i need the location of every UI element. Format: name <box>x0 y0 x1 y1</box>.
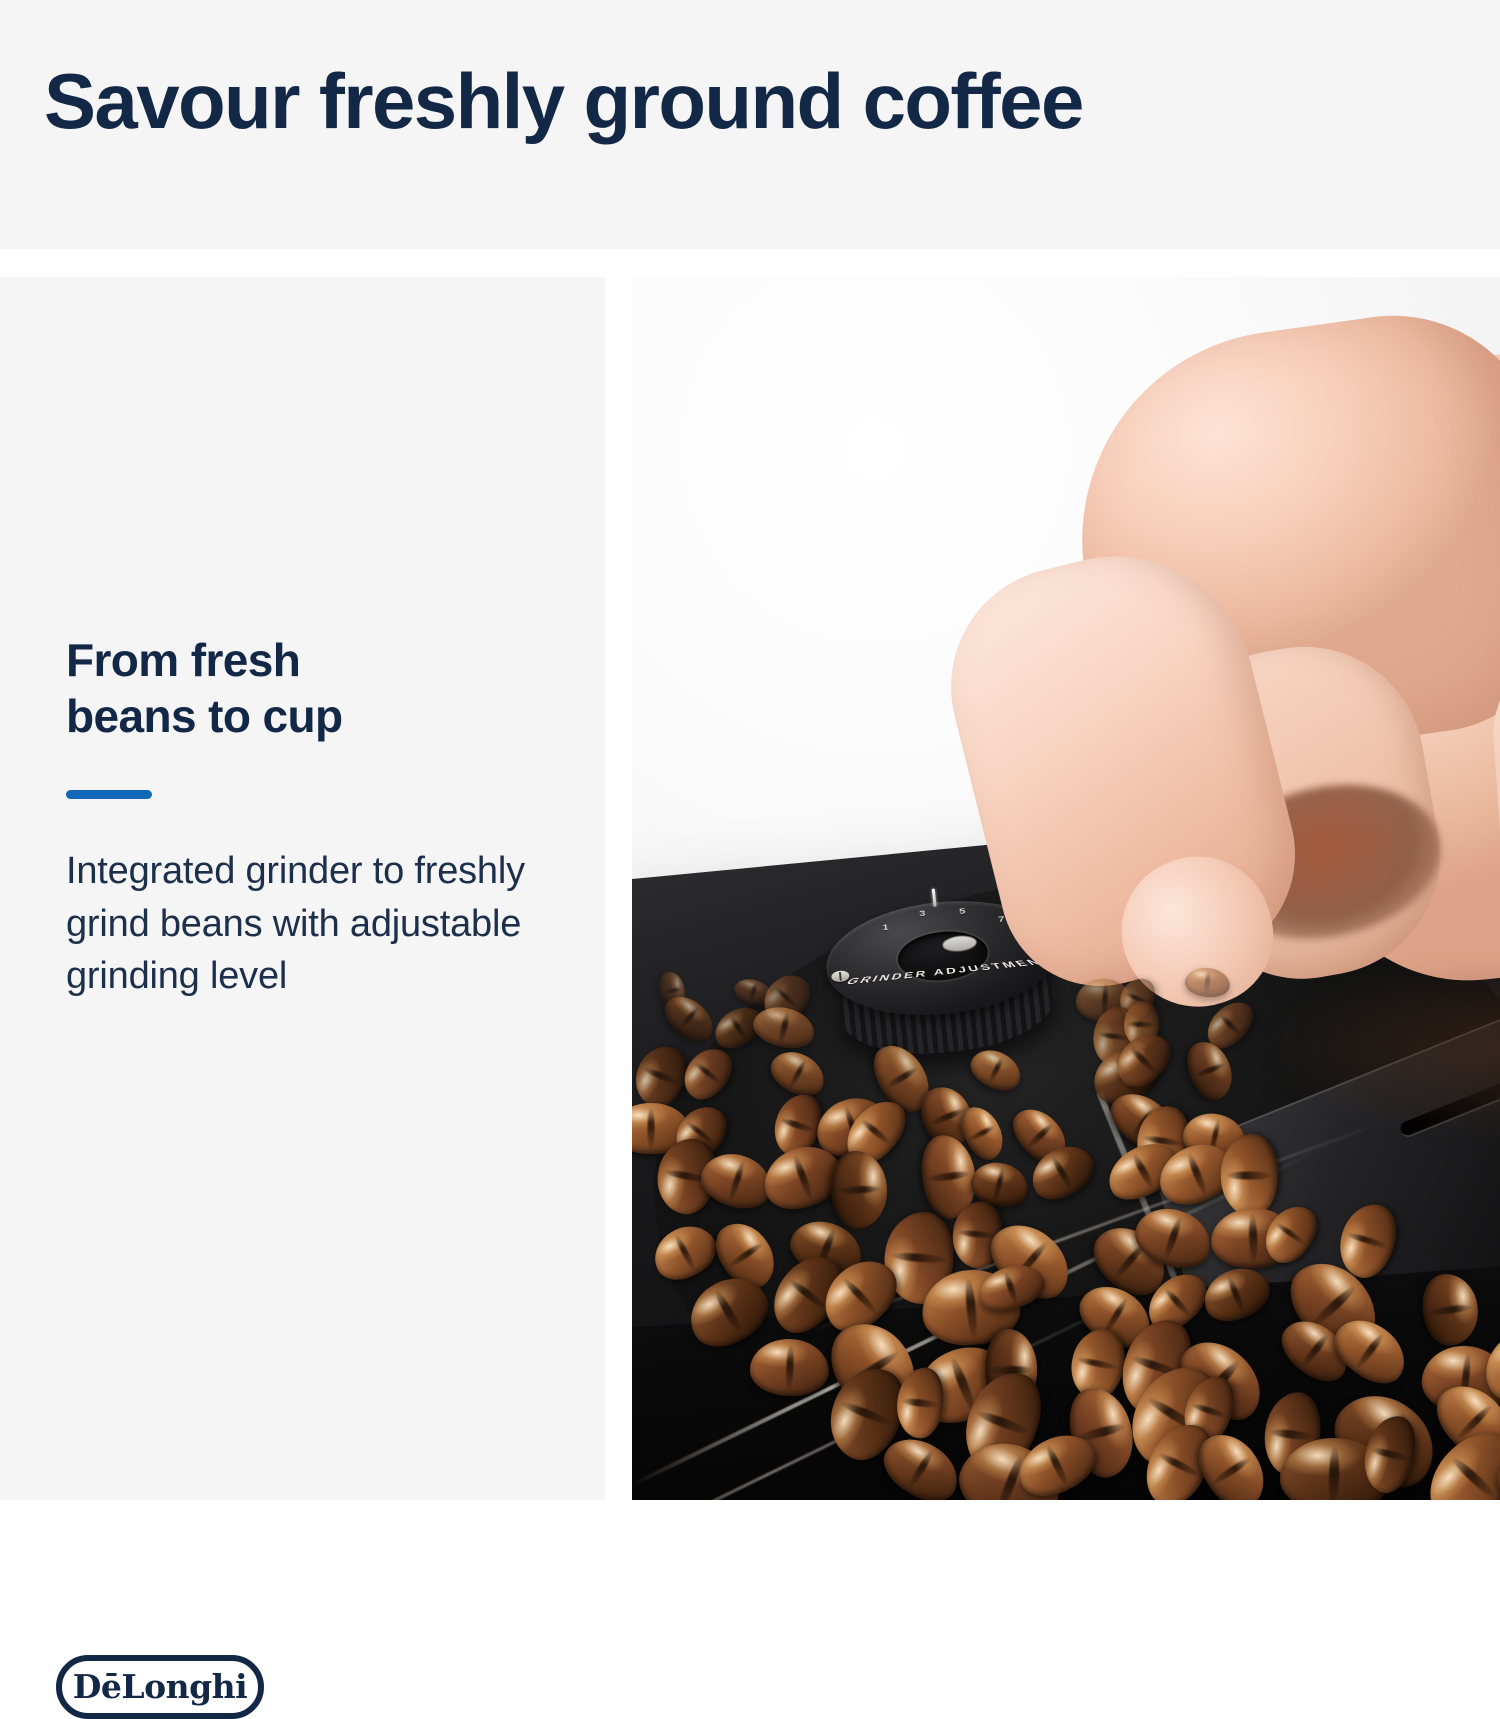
coffee-bean <box>645 1216 725 1289</box>
left-text-panel: From fresh beans to cup Integrated grind… <box>0 277 605 1500</box>
coffee-bean <box>749 1002 819 1055</box>
coffee-bean <box>1221 1134 1279 1217</box>
dial-scale-number: 3 <box>919 909 926 918</box>
product-photo: 7531 GRINDER ADJUSTMENT <box>632 277 1500 1500</box>
dial-scale-number: 1 <box>882 923 889 932</box>
coffee-bean <box>674 1039 740 1108</box>
feature-description: Integrated grinder to freshly grind bean… <box>66 845 586 1002</box>
feature-block: From fresh beans to cup Integrated grind… <box>66 632 586 1003</box>
feature-heading-line-1: From fresh <box>66 632 586 688</box>
feature-heading: From fresh beans to cup <box>66 632 586 744</box>
hand <box>962 317 1500 1097</box>
coffee-bean <box>749 1338 831 1398</box>
delonghi-logo: DēLonghi <box>56 1655 264 1719</box>
product-photo-panel: 7531 GRINDER ADJUSTMENT <box>632 277 1500 1500</box>
coffee-bean <box>829 1150 888 1230</box>
feature-heading-line-2: beans to cup <box>66 688 586 744</box>
delonghi-logo-text: DēLonghi <box>73 1670 247 1703</box>
coffee-bean <box>1418 1270 1482 1349</box>
page-title: Savour freshly ground coffee <box>44 62 1083 142</box>
coffee-bean <box>1197 1259 1277 1329</box>
header-band: Savour freshly ground coffee <box>0 0 1500 249</box>
accent-divider <box>66 790 152 799</box>
